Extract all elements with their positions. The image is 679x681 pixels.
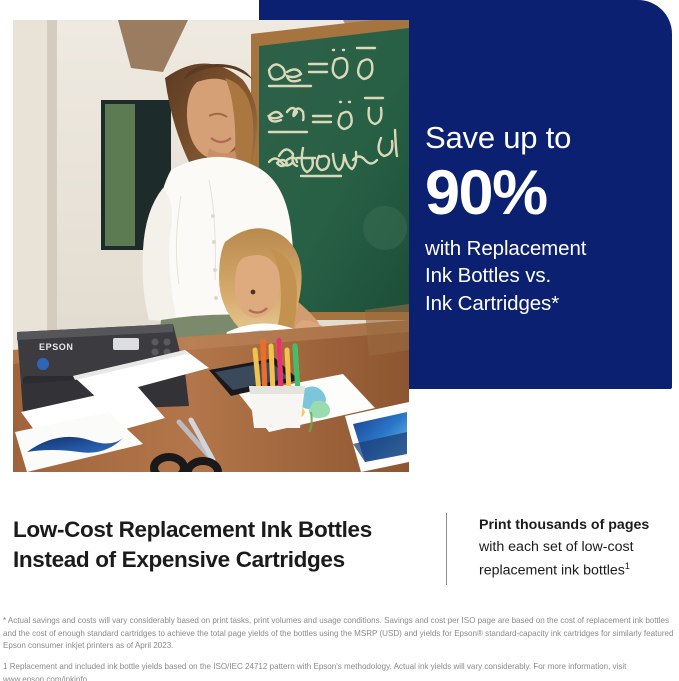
footnotes-section: * Actual savings and costs will vary con… xyxy=(3,615,676,681)
benefits-headline-line-2: Instead of Expensive Cartridges xyxy=(13,545,428,575)
promo-save-up-to: Save up to xyxy=(425,122,665,155)
promo-subline-3: Ink Cartridges* xyxy=(425,290,665,317)
footnote-one: 1 Replacement and included ink bottle yi… xyxy=(3,661,676,681)
vertical-divider xyxy=(446,513,447,585)
promo-subline-2: Ink Bottles vs. xyxy=(425,262,665,289)
hero-photo-artwork: EPSON xyxy=(13,20,409,472)
benefits-right-line-3: replacement ink bottles1 xyxy=(479,559,674,582)
promo-subline-1: with Replacement xyxy=(425,235,665,262)
benefits-right-strong: Print thousands of pages xyxy=(479,514,674,536)
footnote-asterisk: * Actual savings and costs will vary con… xyxy=(3,615,676,653)
benefits-footnote-marker: 1 xyxy=(625,561,630,571)
svg-text:EPSON: EPSON xyxy=(39,342,74,352)
promo-percent: 90% xyxy=(425,159,665,227)
promo-page: Save up to 90% with Replacement Ink Bott… xyxy=(0,0,679,681)
hero-photo: EPSON xyxy=(13,20,409,472)
benefits-right-block: Print thousands of pages with each set o… xyxy=(479,514,674,582)
benefits-right-line-2: with each set of low-cost xyxy=(479,536,674,558)
promo-text-block: Save up to 90% with Replacement Ink Bott… xyxy=(425,122,665,317)
benefits-headline: Low-Cost Replacement Ink Bottles Instead… xyxy=(13,515,428,575)
promo-subline-group: with Replacement Ink Bottles vs. Ink Car… xyxy=(425,235,665,317)
benefits-right-line-3-text: replacement ink bottles xyxy=(479,563,625,579)
benefits-headline-line-1: Low-Cost Replacement Ink Bottles xyxy=(13,515,428,545)
hero-section: Save up to 90% with Replacement Ink Bott… xyxy=(0,0,679,480)
